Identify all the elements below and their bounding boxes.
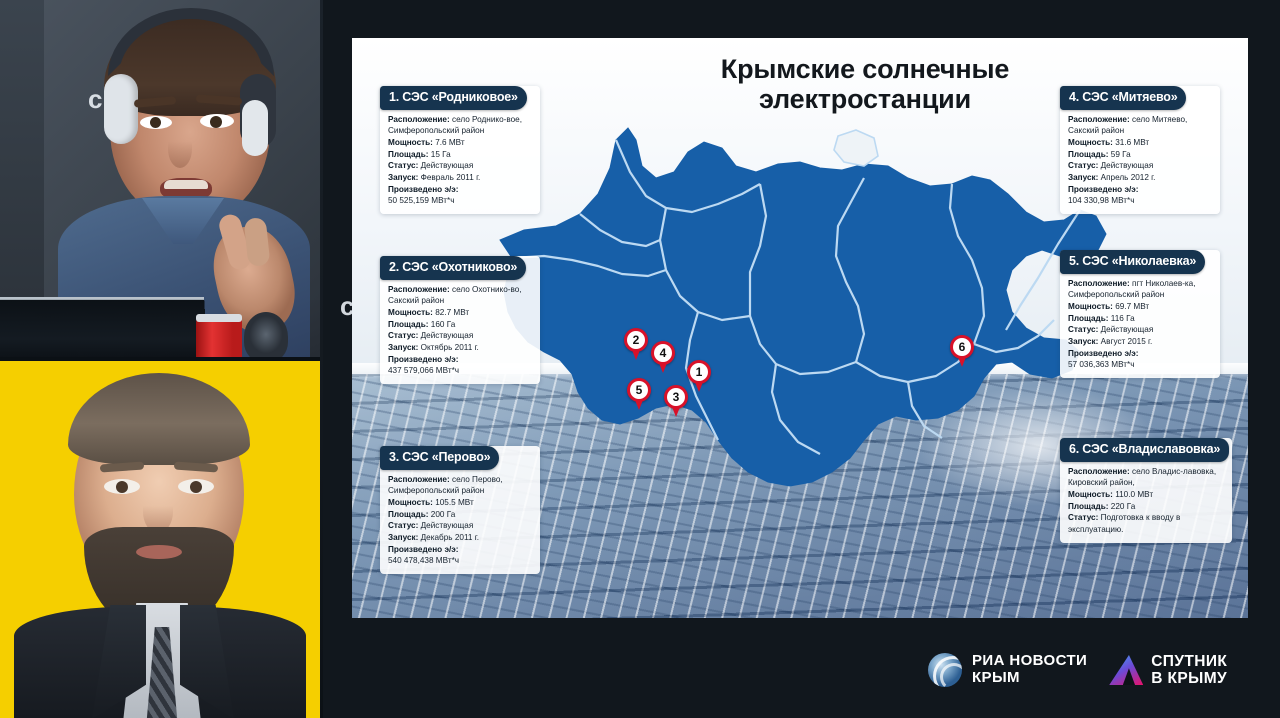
headphone-cup-left-icon <box>104 74 138 144</box>
plant-4-produced-label: Произведено э/э: <box>1068 184 1212 196</box>
map-pin-3-label: 3 <box>667 388 685 406</box>
plant-6-status: Статус: Подготовка к вводу в эксплуатаци… <box>1068 512 1224 535</box>
plant-1-launch: Запуск: Февраль 2011 г. <box>388 172 532 184</box>
plant-card-6-header: 6. СЭС «Владиславовка» <box>1060 438 1229 462</box>
plant-3-produced-value: 540 478,438 МВт*ч <box>388 555 532 567</box>
plant-4-power: Мощность: 31.6 МВт <box>1068 137 1212 149</box>
plant-3-area: Площадь: 200 Га <box>388 509 532 521</box>
plant-card-4-header: 4. СЭС «Митяево» <box>1060 86 1186 110</box>
map-pin-2-label: 2 <box>627 331 645 349</box>
plant-4-produced-value: 104 330,98 МВт*ч <box>1068 195 1212 207</box>
plant-3-location: Расположение: село Перово, Симферопольск… <box>388 474 532 497</box>
plant-card-6[interactable]: 6. СЭС «Владиславовка» Расположение: сел… <box>1060 438 1232 543</box>
page-title: Крымские солнечные электростанции <box>690 54 1040 114</box>
map-pin-3[interactable]: 3 <box>664 385 688 417</box>
plant-card-4-body: Расположение: село Митяево, Сакский райо… <box>1060 114 1220 207</box>
ria-logo-line-1: РИА НОВОСТИ <box>972 653 1087 670</box>
plant-card-5[interactable]: 5. СЭС «Николаевка» Расположение: пгт Ни… <box>1060 250 1220 378</box>
map-pin-1-label: 1 <box>690 363 708 381</box>
plant-6-area: Площадь: 220 Га <box>1068 501 1224 513</box>
plant-card-3-body: Расположение: село Перово, Симферопольск… <box>380 474 540 567</box>
plant-3-status: Статус: Действующая <box>388 520 532 532</box>
ria-logo-text: РИА НОВОСТИ КРЫМ <box>972 653 1087 687</box>
plant-4-location: Расположение: село Митяево, Сакский райо… <box>1068 114 1212 137</box>
plant-card-3[interactable]: 3. СЭС «Перово» Расположение: село Перов… <box>380 446 540 574</box>
plant-card-6-body: Расположение: село Владис-лавовка, Киров… <box>1060 466 1232 536</box>
map-pin-5-label: 5 <box>630 381 648 399</box>
map-pin-1[interactable]: 1 <box>687 360 711 392</box>
plant-5-power: Мощность: 69.7 МВт <box>1068 301 1212 313</box>
map-pin-5[interactable]: 5 <box>627 378 651 410</box>
plant-4-launch: Запуск: Апрель 2012 г. <box>1068 172 1212 184</box>
sputnik-logo-text: СПУТНИК В КРЫМУ <box>1151 653 1227 688</box>
host-2-pupil-right <box>190 481 202 493</box>
channel-logos: РИА НОВОСТИ КРЫМ СПУТНИК В КРЫМУ <box>928 646 1227 694</box>
laptop <box>0 297 208 359</box>
map-pin-6-label: 6 <box>953 338 971 356</box>
plant-3-launch: Запуск: Декабрь 2011 г. <box>388 532 532 544</box>
map-pin-6[interactable]: 6 <box>950 335 974 367</box>
plant-2-produced-value: 437 579,066 МВт*ч <box>388 365 532 377</box>
plant-1-produced-value: 50 525,159 МВт*ч <box>388 195 532 207</box>
plant-1-produced-label: Произведено э/э: <box>388 184 532 196</box>
red-can-lid <box>196 314 242 322</box>
plant-card-2[interactable]: 2. СЭС «Охотниково» Расположение: село О… <box>380 256 540 384</box>
plant-1-power: Мощность: 7.6 МВт <box>388 137 532 149</box>
plant-2-produced-label: Произведено э/э: <box>388 354 532 366</box>
map-pin-4[interactable]: 4 <box>651 341 675 373</box>
map-pin-2[interactable]: 2 <box>624 328 648 360</box>
sivash-lagoon <box>834 130 878 166</box>
plant-2-launch: Запуск: Октябрь 2011 г. <box>388 342 532 354</box>
crimea-map[interactable] <box>460 44 1140 604</box>
plant-2-location: Расположение: село Охотнико-во, Сакский … <box>388 284 532 307</box>
video-tile-host-2[interactable] <box>0 359 320 718</box>
video-column: c <box>0 0 320 718</box>
video-tile-host-1[interactable]: c <box>0 0 320 359</box>
ria-novosti-crimea-logo[interactable]: РИА НОВОСТИ КРЫМ <box>928 653 1087 687</box>
map-pin-4-label: 4 <box>654 344 672 362</box>
plant-4-area: Площадь: 59 Га <box>1068 149 1212 161</box>
title-line-2: электростанции <box>690 84 1040 114</box>
ria-globe-icon <box>928 653 962 687</box>
map-landmass <box>500 128 1106 486</box>
red-can <box>196 318 242 359</box>
microphone-icon <box>244 312 288 359</box>
plant-3-power: Мощность: 105.5 МВт <box>388 497 532 509</box>
host-2-mouth <box>136 545 182 559</box>
plant-2-area: Площадь: 160 Га <box>388 319 532 331</box>
plant-6-location: Расположение: село Владис-лавовка, Киров… <box>1068 466 1224 489</box>
column-divider <box>320 0 323 718</box>
plant-card-5-body: Расположение: пгт Николаев-ка, Симферопо… <box>1060 278 1220 371</box>
plant-1-location: Расположение: село Роднико-вое, Симфероп… <box>388 114 532 137</box>
plant-4-status: Статус: Действующая <box>1068 160 1212 172</box>
ria-logo-line-2: КРЫМ <box>972 670 1087 687</box>
plant-1-status: Статус: Действующая <box>388 160 532 172</box>
plant-card-4[interactable]: 4. СЭС «Митяево» Расположение: село Митя… <box>1060 86 1220 214</box>
plant-5-area: Площадь: 116 Га <box>1068 313 1212 325</box>
host-1-pupil-right <box>210 116 222 128</box>
plant-card-2-header: 2. СЭС «Охотниково» <box>380 256 526 280</box>
plant-card-2-body: Расположение: село Охотнико-во, Сакский … <box>380 284 540 377</box>
plant-card-5-header: 5. СЭС «Николаевка» <box>1060 250 1205 274</box>
plant-card-1[interactable]: 1. СЭС «Родниковое» Расположение: село Р… <box>380 86 540 214</box>
title-line-1: Крымские солнечные <box>690 54 1040 84</box>
plant-3-produced-label: Произведено э/э: <box>388 544 532 556</box>
host-1-nose <box>168 130 192 168</box>
headphone-cup-right-pad <box>242 100 268 156</box>
plant-5-produced-label: Произведено э/э: <box>1068 348 1212 360</box>
sputnik-logo-line-1: СПУТНИК <box>1151 653 1227 670</box>
host-2-pupil-left <box>116 481 128 493</box>
plant-5-produced-value: 57 036,363 МВт*ч <box>1068 359 1212 371</box>
host-2-hair <box>68 373 250 465</box>
plant-5-location: Расположение: пгт Николаев-ка, Симферопо… <box>1068 278 1212 301</box>
sputnik-triangle-icon <box>1109 655 1143 685</box>
sputnik-crimea-logo[interactable]: СПУТНИК В КРЫМУ <box>1109 653 1227 688</box>
plant-card-3-header: 3. СЭС «Перово» <box>380 446 499 470</box>
plant-card-1-body: Расположение: село Роднико-вое, Симфероп… <box>380 114 540 207</box>
infographic-slide: Крымские солнечные электростанции 1. СЭС… <box>352 38 1248 618</box>
plant-card-1-header: 1. СЭС «Родниковое» <box>380 86 527 110</box>
plant-5-launch: Запуск: Август 2015 г. <box>1068 336 1212 348</box>
plant-6-power: Мощность: 110.0 МВт <box>1068 489 1224 501</box>
host-1-teeth <box>164 180 208 189</box>
plant-2-power: Мощность: 82.7 МВт <box>388 307 532 319</box>
broadcast-screen: c <box>0 0 1280 718</box>
host-1-pupil-left <box>150 117 161 128</box>
plant-5-status: Статус: Действующая <box>1068 324 1212 336</box>
sputnik-logo-line-2: В КРЫМУ <box>1151 670 1227 687</box>
studio-panel <box>0 0 44 300</box>
video-tile-divider <box>0 357 320 361</box>
plant-1-area: Площадь: 15 Га <box>388 149 532 161</box>
plant-2-status: Статус: Действующая <box>388 330 532 342</box>
